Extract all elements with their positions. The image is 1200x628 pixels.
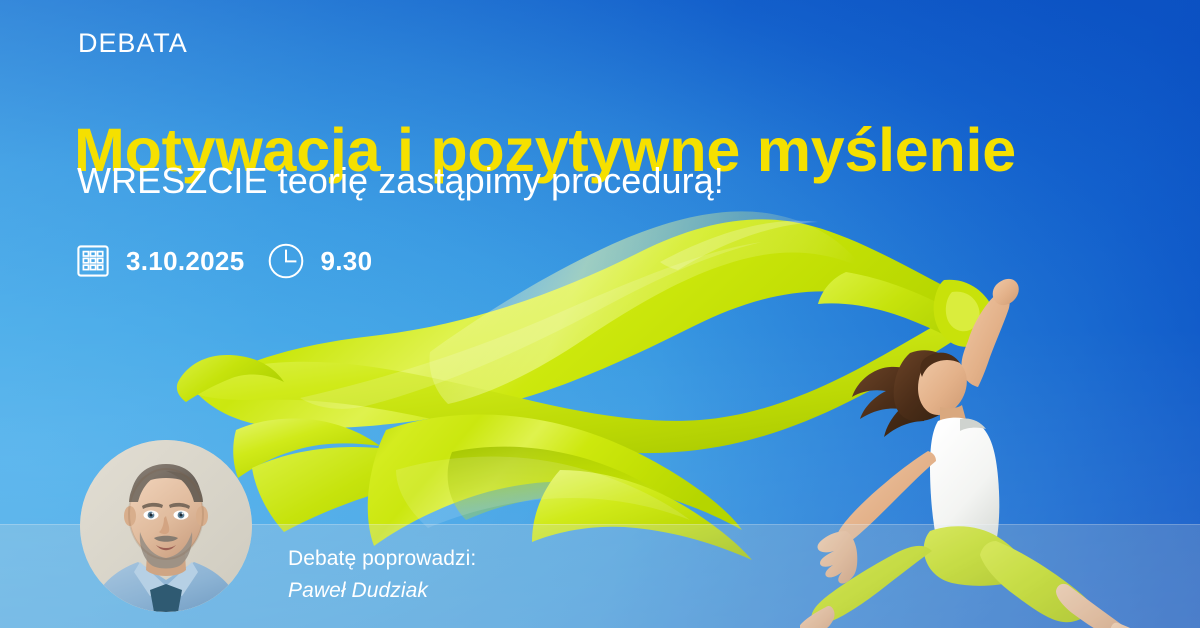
subtitle: WRESZCIE teorię zastąpimy procedurą! xyxy=(77,159,724,202)
event-banner: DEBATA Motywacja i pozytywne myślenie WR… xyxy=(0,0,1200,628)
host-credit: Debatę poprowadzi: Paweł Dudziak xyxy=(288,545,476,604)
calendar-icon xyxy=(77,245,109,277)
eyebrow-label: DEBATA xyxy=(78,29,188,59)
event-meta: 3.10.2025 9.30 xyxy=(77,243,372,279)
event-time: 9.30 xyxy=(320,248,372,274)
avatar xyxy=(80,440,252,612)
clock-icon xyxy=(268,243,304,279)
host-name: Paweł Dudziak xyxy=(288,577,476,605)
event-date: 3.10.2025 xyxy=(126,248,244,274)
host-label: Debatę poprowadzi: xyxy=(288,545,476,573)
